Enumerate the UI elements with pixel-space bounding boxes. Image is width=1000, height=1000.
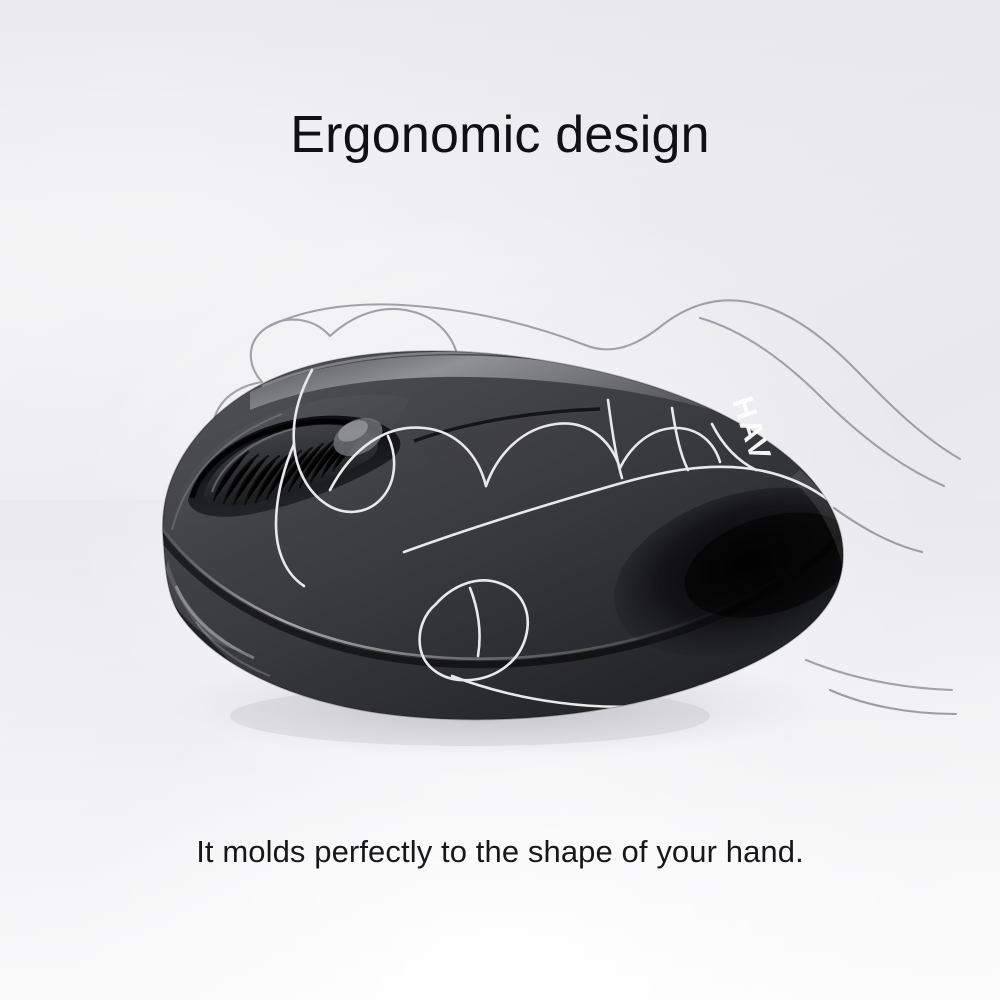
page-title: Ergonomic design [0,106,1000,164]
page-caption: It molds perfectly to the shape of your … [0,833,1000,870]
hand-line-art-right-tail [830,508,956,714]
product-marketing-image: HAV [0,0,1000,1000]
